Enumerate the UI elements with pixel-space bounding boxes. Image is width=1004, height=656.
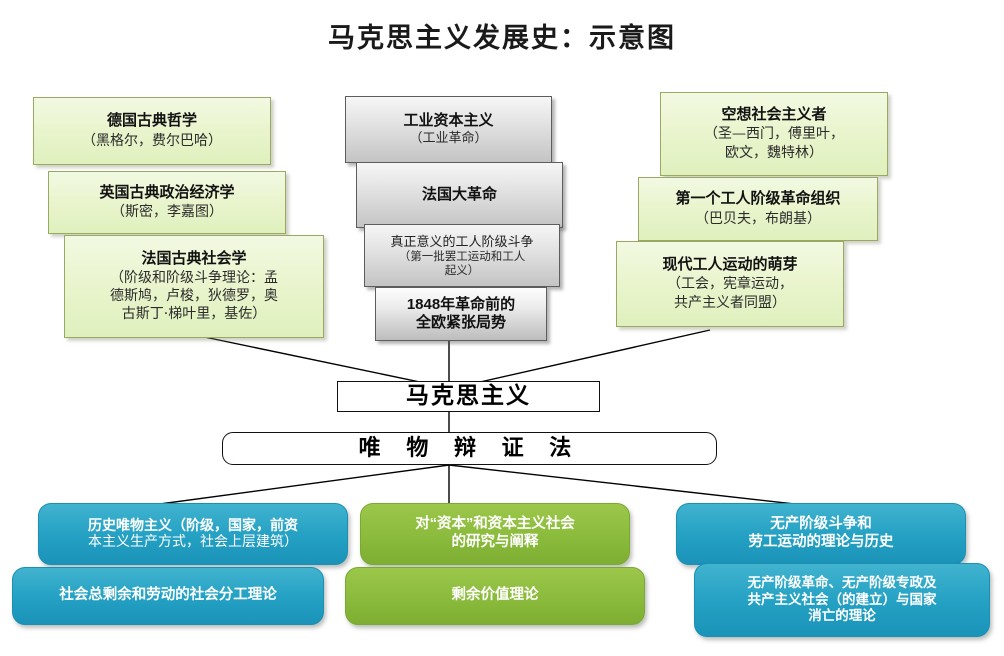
card-heading: 1848年革命前的 — [407, 296, 515, 314]
card-subtext: （工业革命） — [409, 131, 487, 147]
node-dialectical-materialism[interactable]: 唯 物 辩 证 法 — [222, 432, 717, 465]
chip-historical-materialism[interactable]: 历史唯物主义（阶级，国家，前资 本主义生产方式，社会上层建筑） — [38, 503, 348, 565]
card-heading: 工业资本主义 — [403, 112, 493, 130]
card-french-classical-sociology[interactable]: 法国古典社会学 （阶级和阶级斗争理论：孟 德斯鸠，卢梭，狄德罗，奥 古斯丁·梯叶… — [64, 235, 324, 338]
node-marxism[interactable]: 马克思主义 — [337, 381, 600, 412]
card-subtext-line1: （圣—西门，傅里叶， — [704, 125, 844, 143]
node-marxism-label: 马克思主义 — [406, 382, 531, 410]
card-pre-1848-european-tension[interactable]: 1848年革命前的 全欧紧张局势 — [375, 287, 547, 341]
node-dialectics-label: 唯 物 辩 证 法 — [359, 435, 581, 462]
chip-surplus-value-theory[interactable]: 剩余价值理论 — [345, 567, 645, 625]
chip-line-2: 共产主义社会（的建立）与国家 — [748, 592, 937, 608]
diagram-canvas: 马克思主义发展史：示意图 德国古典哲学 （黑格尔，费尔巴哈） 英国古典政治经济学… — [0, 0, 1004, 656]
chip-line-1: 无产阶级斗争和 — [770, 516, 872, 534]
chip-capital-research[interactable]: 对“资本”和资本主义社会 的研究与阐释 — [360, 503, 630, 565]
card-heading: 法国大革命 — [422, 186, 497, 204]
chip-proletarian-struggle-theory[interactable]: 无产阶级斗争和 劳工运动的理论与历史 — [676, 503, 966, 565]
chip-line-1: 社会总剩余和劳动的社会分工理论 — [59, 587, 277, 605]
card-heading: 法国古典社会学 — [141, 250, 246, 268]
chip-line-1: 无产阶级革命、无产阶级专政及 — [748, 575, 937, 591]
card-german-classical-philosophy[interactable]: 德国古典哲学 （黑格尔，费尔巴哈） — [33, 97, 271, 165]
card-subtext-line3: 古斯丁·梯叶里，基佐） — [122, 305, 266, 323]
card-heading: 德国古典哲学 — [107, 112, 197, 130]
card-heading: 英国古典政治经济学 — [99, 184, 234, 202]
chip-line-2: 本主义生产方式，社会上层建筑） — [88, 534, 298, 551]
chip-line-1: 对“资本”和资本主义社会 — [415, 516, 575, 534]
chip-proletarian-revolution-state[interactable]: 无产阶级革命、无产阶级专政及 共产主义社会（的建立）与国家 消亡的理论 — [694, 563, 990, 637]
page-title: 马克思主义发展史：示意图 — [0, 16, 1004, 55]
card-french-revolution[interactable]: 法国大革命 — [356, 162, 563, 228]
card-subtext: （黑格尔，费尔巴哈） — [82, 132, 222, 150]
card-first-proletarian-revolutionary-organisation[interactable]: 第一个工人阶级革命组织 （巴贝夫，布朗基） — [638, 177, 878, 241]
card-heading: 现代工人运动的萌芽 — [662, 256, 797, 274]
card-heading-line2: 全欧紧张局势 — [416, 314, 506, 332]
card-utopian-socialists[interactable]: 空想社会主义者 （圣—西门，傅里叶， 欧文，魏特林） — [660, 92, 888, 176]
card-heading: 空想社会主义者 — [721, 106, 826, 124]
card-industrial-capitalism[interactable]: 工业资本主义 （工业革命） — [345, 96, 552, 163]
connector-dialectics-to-left — [130, 465, 449, 508]
connector-dialectics-to-right — [449, 465, 830, 508]
card-subtext-line1: （工会，宪章运动， — [667, 275, 793, 293]
card-subtext: （巴贝夫，布朗基） — [695, 210, 821, 228]
card-modern-labour-movement-sprout[interactable]: 现代工人运动的萌芽 （工会，宪章运动， 共产主义者同盟） — [616, 241, 844, 327]
card-subtext-line2: 起义） — [445, 263, 480, 277]
card-heading: 第一个工人阶级革命组织 — [675, 190, 840, 208]
chip-line-2: 劳工运动的理论与历史 — [749, 534, 894, 552]
card-british-classical-political-economy[interactable]: 英国古典政治经济学 （斯密，李嘉图） — [48, 171, 286, 234]
card-subtext-line2: 共产主义者同盟） — [674, 294, 786, 312]
card-subtext: （斯密，李嘉图） — [111, 203, 223, 221]
chip-line-2: 的研究与阐释 — [452, 534, 539, 552]
chip-line-1: 剩余价值理论 — [452, 587, 539, 605]
card-subtext-line2: 德斯鸠，卢梭，狄德罗，奥 — [110, 287, 278, 305]
chip-line-3: 消亡的理论 — [808, 608, 876, 624]
card-heading: 真正意义的工人阶级斗争 — [390, 234, 533, 250]
chip-line-1: 历史唯物主义（阶级，国家，前资 — [88, 517, 298, 534]
card-real-working-class-struggle[interactable]: 真正意义的工人阶级斗争 （第一批罢工运动和工人 起义） — [364, 224, 560, 287]
card-subtext-line1: （第一批罢工运动和工人 — [399, 249, 526, 263]
card-subtext-line1: （阶级和阶级斗争理论：孟 — [110, 269, 278, 287]
connector-left-to-marxism — [190, 334, 420, 382]
chip-social-surplus-division-of-labour[interactable]: 社会总剩余和劳动的社会分工理论 — [12, 567, 324, 625]
card-subtext-line2: 欧文，魏特林） — [725, 144, 823, 162]
